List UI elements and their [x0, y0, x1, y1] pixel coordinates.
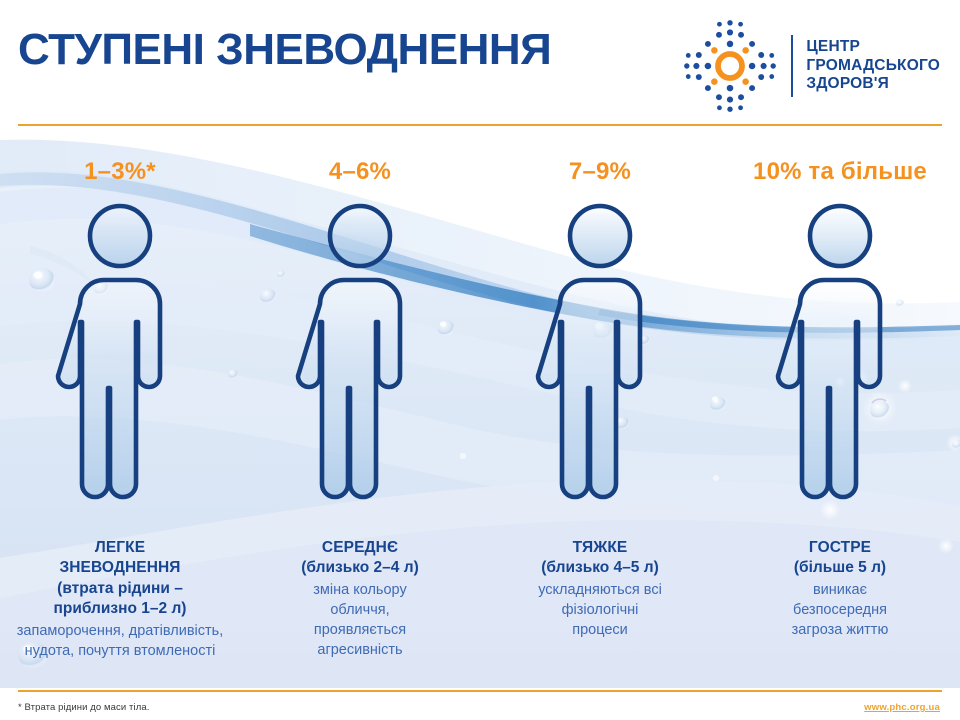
logo-line-2: ГРОМАДСЬКОГО: [806, 57, 940, 76]
percent-label-1: 1–3%*: [0, 155, 240, 189]
stage-amount-1: (втрата рідини –: [12, 579, 228, 599]
stage-symptoms-4: виникаєбезпосереднязагроза життю: [732, 580, 948, 640]
logo: ЦЕНТР ГРОМАДСЬКОГО ЗДОРОВ'Я: [682, 18, 940, 114]
stage-title-2: СЕРЕДНЄ: [252, 538, 468, 558]
stage-title-1b: ЗНЕВОДНЕННЯ: [12, 558, 228, 578]
percent-row: 1–3%* 4–6% 7–9% 10% та більше: [0, 155, 960, 189]
stage-symptoms-2: зміна кольоруобличчя,проявляєтьсяагресив…: [252, 580, 468, 660]
caption-block-3: ТЯЖКЕ (близько 4–5 л) ускладняються всіф…: [480, 528, 720, 688]
stage-symptoms-1: запаморочення, дратівливість,нудота, поч…: [12, 621, 228, 661]
percent-label-2: 4–6%: [240, 155, 480, 189]
percent-label-3: 7–9%: [480, 155, 720, 189]
logo-line-3: ЗДОРОВ'Я: [806, 75, 940, 94]
stage-amount-1b: приблизно 1–2 л): [12, 599, 228, 619]
caption-block-4: ГОСТРЕ (більше 5 л) виникаєбезпосередняз…: [720, 528, 960, 688]
phc-dot-logo-icon: [682, 18, 778, 114]
stage-symptoms-3: ускладняються всіфізіологічніпроцеси: [492, 580, 708, 640]
person-icon-4: [774, 200, 906, 518]
logo-divider: [791, 35, 793, 97]
logo-wordmark: ЦЕНТР ГРОМАДСЬКОГО ЗДОРОВ'Я: [806, 38, 940, 95]
person-icon-1: [54, 200, 186, 518]
stage-title-4: ГОСТРЕ: [732, 538, 948, 558]
footer-divider: [18, 690, 942, 692]
caption-row: ЛЕГКЕ ЗНЕВОДНЕННЯ (втрата рідини – прибл…: [0, 528, 960, 688]
page-title: СТУПЕНІ ЗНЕВОДНЕННЯ: [18, 28, 551, 72]
website-link[interactable]: www.phc.org.ua: [864, 702, 940, 713]
percent-label-4: 10% та більше: [720, 155, 960, 189]
infographic-poster: СТУПЕНІ ЗНЕВОДНЕННЯ: [0, 0, 960, 720]
logo-line-1: ЦЕНТР: [806, 38, 940, 57]
person-icon-3: [534, 200, 666, 518]
stage-title-3: ТЯЖКЕ: [492, 538, 708, 558]
caption-block-1: ЛЕГКЕ ЗНЕВОДНЕННЯ (втрата рідини – прибл…: [0, 528, 240, 688]
stage-amount-2: (близько 2–4 л): [252, 558, 468, 578]
person-icon-2: [294, 200, 426, 518]
caption-block-2: СЕРЕДНЄ (близько 2–4 л) зміна кольоруобл…: [240, 528, 480, 688]
stage-amount-4: (більше 5 л): [732, 558, 948, 578]
poster-header: СТУПЕНІ ЗНЕВОДНЕННЯ: [0, 0, 960, 128]
header-divider: [18, 124, 942, 126]
stage-title-1: ЛЕГКЕ: [12, 538, 228, 558]
footnote: * Втрата рідини до маси тіла.: [18, 702, 149, 713]
stage-amount-3: (близько 4–5 л): [492, 558, 708, 578]
